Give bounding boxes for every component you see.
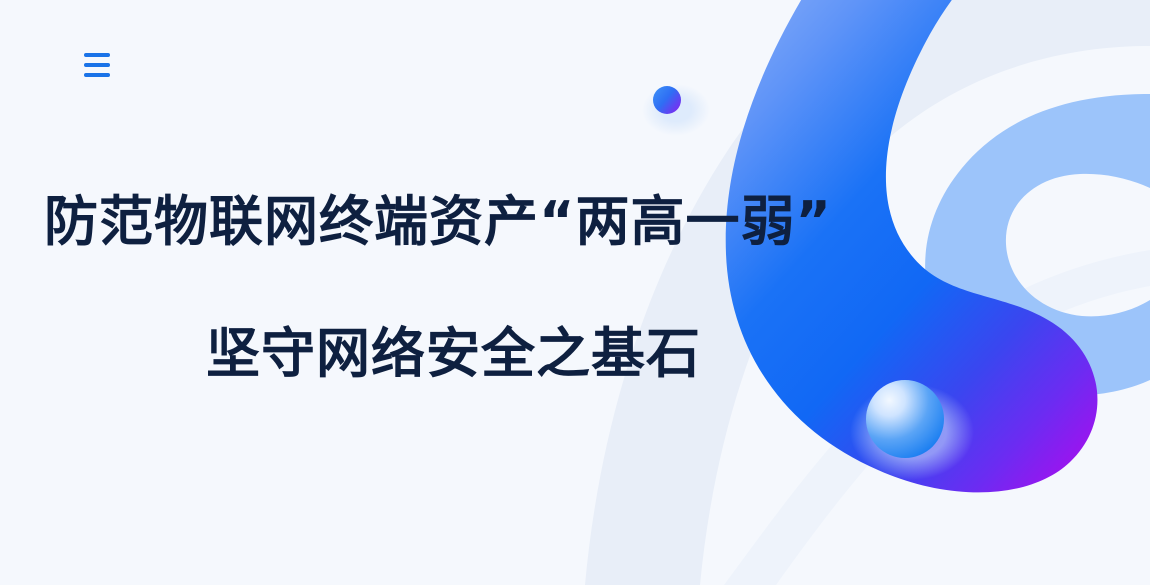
menu-bar-top [84, 53, 110, 57]
menu-bar-middle [84, 63, 110, 67]
menu-bar-bottom [84, 73, 110, 77]
light-blue-crescent-shape [925, 94, 1150, 396]
page-title: 防范物联网终端资产“两高一弱” 坚守网络安全之基石 [0, 186, 880, 390]
hamburger-menu-icon[interactable] [84, 53, 114, 77]
large-sphere-glow [850, 384, 974, 480]
slide-canvas: 防范物联网终端资产“两高一弱” 坚守网络安全之基石 [0, 0, 1150, 585]
title-line-2: 坚守网络安全之基石 [0, 318, 880, 390]
small-sphere-glow [642, 84, 710, 136]
title-line-1: 防范物联网终端资产“两高一弱” [0, 186, 880, 258]
small-gradient-sphere [653, 86, 681, 114]
large-blue-sphere [866, 380, 944, 458]
